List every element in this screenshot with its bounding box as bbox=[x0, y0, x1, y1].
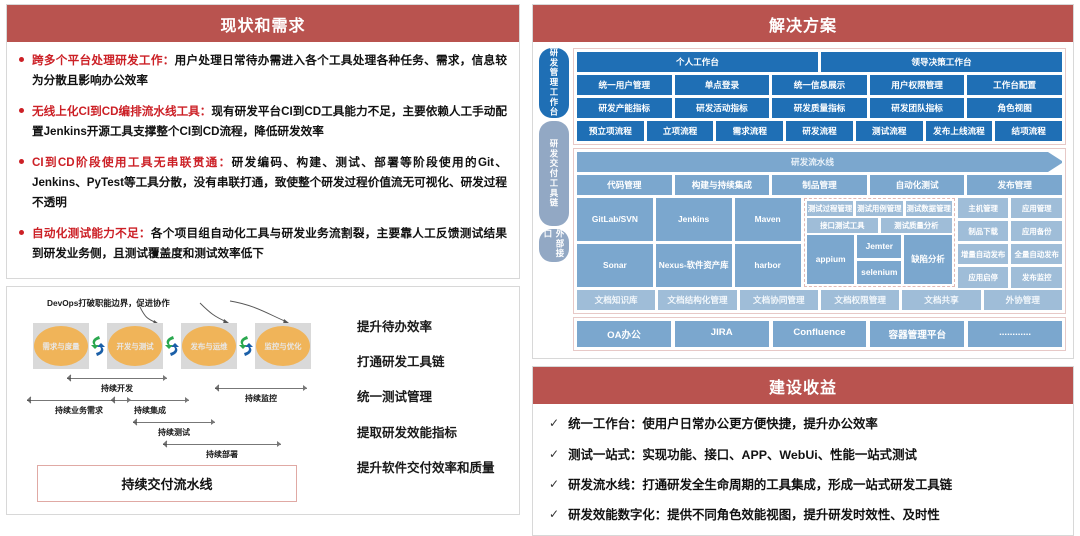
rail-workbench: 研发管理工作台 bbox=[539, 48, 569, 118]
test-mid-row: 接口测试工具 测试质量分析 bbox=[807, 218, 952, 233]
benefit-text: 研发效能数字化：提供不同角色效能视图，提升研发时效性、及时性 bbox=[568, 507, 940, 523]
stage-2: 发布与运维 bbox=[181, 323, 237, 369]
benefit-desc: 使用户日常办公更方便快捷，提升办公效率 bbox=[642, 417, 877, 431]
tool-jenkins[interactable]: Jenkins bbox=[656, 198, 732, 241]
issue-key: 无线上化CI到CD编排流水线工具： bbox=[32, 105, 211, 118]
box-process[interactable]: 结项流程 bbox=[995, 121, 1062, 141]
api-test-tool[interactable]: 接口测试工具 bbox=[807, 218, 878, 233]
stage-1: 开发与测试 bbox=[107, 323, 163, 369]
box-doc[interactable]: 文档结构化管理 bbox=[658, 290, 736, 310]
benefits-title: 建设收益 bbox=[533, 367, 1073, 404]
test-top-row: 测试过程管理 测试用例管理 测试数据管理 bbox=[807, 201, 952, 216]
box-process[interactable]: 发布上线流程 bbox=[926, 121, 993, 141]
benefit-key: 研发效能数字化： bbox=[568, 508, 667, 522]
box-stage[interactable]: 自动化测试 bbox=[870, 175, 965, 195]
tools-artifact: Maven harbor bbox=[735, 198, 801, 287]
box-capability[interactable]: 统一用户管理 bbox=[577, 75, 672, 95]
release-monitor[interactable]: 发布监控 bbox=[1011, 267, 1062, 287]
list-item: ✓ 统一工作台：使用户日常办公更方便快捷，提升办公效率 bbox=[549, 416, 1057, 432]
release-row: 增量自动发布 全量自动发布 bbox=[958, 244, 1062, 264]
capabilities-row: 统一用户管理 单点登录 统一信息展示 用户权限管理 工作台配置 bbox=[577, 75, 1062, 95]
range-label: 持续监控 bbox=[215, 393, 307, 404]
box-confluence[interactable]: Confluence bbox=[773, 321, 867, 347]
external-row: OA办公 JIRA Confluence 容器管理平台 ............ bbox=[577, 321, 1062, 347]
test-bottom-row: appium Jemter selenium 缺陷分析 bbox=[807, 235, 952, 284]
box-process[interactable]: 预立项流程 bbox=[577, 121, 644, 141]
release-row: 应用启停 发布监控 bbox=[958, 267, 1062, 287]
tools-release-group: 主机管理 应用管理 制品下载 应用备份 增量自动发布 全量自动发布 bbox=[958, 198, 1062, 287]
tool-nexus[interactable]: Nexus-软件资产库 bbox=[656, 244, 732, 287]
tools-row: GitLab/SVN Sonar Jenkins Nexus-软件资产库 Mav… bbox=[577, 198, 1062, 287]
range-continuous-deploy: 持续部署 bbox=[163, 441, 281, 457]
range-continuous-monitor: 持续监控 bbox=[215, 385, 307, 401]
current-state-card: 现状和需求 跨多个平台处理研发工作：用户处理日常待办需进入各个工具处理各种任务、… bbox=[6, 4, 520, 279]
host-mgmt[interactable]: 主机管理 bbox=[958, 198, 1009, 218]
right-column: 解决方案 研发管理工作台 研发交付工具链 外部接口 个人工作台 领导决策工作台 … bbox=[532, 4, 1074, 515]
list-item: 提取研发效能指标 bbox=[357, 422, 509, 441]
app-start-stop[interactable]: 应用启停 bbox=[958, 267, 1009, 287]
tools-build: Jenkins Nexus-软件资产库 bbox=[656, 198, 732, 287]
toolchain-group: 研发流水线 代码管理 构建与持续集成 制品管理 自动化测试 发布管理 GitLa… bbox=[573, 148, 1066, 314]
workbench-row: 个人工作台 领导决策工作台 bbox=[577, 52, 1062, 72]
processes-row: 预立项流程 立项流程 需求流程 研发流程 测试流程 发布上线流程 结项流程 bbox=[577, 121, 1062, 141]
benefit-desc: 实现功能、接口、APP、WebUi、性能一站式测试 bbox=[642, 448, 916, 462]
check-icon: ✓ bbox=[549, 416, 559, 430]
box-process[interactable]: 测试流程 bbox=[856, 121, 923, 141]
box-jira[interactable]: JIRA bbox=[675, 321, 769, 347]
box-doc[interactable]: 文档协同管理 bbox=[740, 290, 818, 310]
rail-toolchain: 研发交付工具链 bbox=[539, 121, 569, 226]
list-item: 提升待办效率 bbox=[357, 316, 509, 335]
pipeline-box: 持续交付流水线 bbox=[37, 465, 297, 502]
benefits-card: 建设收益 ✓ 统一工作台：使用户日常办公更方便快捷，提升办公效率 ✓ 测试一站式… bbox=[532, 366, 1074, 536]
range-continuous-test: 持续测试 bbox=[133, 419, 215, 435]
tool-harbor[interactable]: harbor bbox=[735, 244, 801, 287]
lifecycle-stages: 需求与度量 开发与测试 发布与运维 监控与优化 bbox=[33, 323, 311, 369]
range-continuous-integration: 持续集成 bbox=[111, 397, 189, 413]
stage-label: 需求与度量 bbox=[34, 326, 88, 366]
tools-code: GitLab/SVN Sonar bbox=[577, 198, 653, 287]
box-doc[interactable]: 文档权限管理 bbox=[821, 290, 899, 310]
release-row: 主机管理 应用管理 bbox=[958, 198, 1062, 218]
box-oa[interactable]: OA办公 bbox=[577, 321, 671, 347]
test-data-mgmt[interactable]: 测试数据管理 bbox=[906, 201, 952, 216]
slide-root: 现状和需求 跨多个平台处理研发工作：用户处理日常待办需进入各个工具处理各种任务、… bbox=[0, 0, 1080, 519]
sync-icon bbox=[237, 335, 255, 357]
issue-key: CI到CD阶段使用工具无串联贯通： bbox=[32, 156, 232, 169]
box-container-platform[interactable]: 容器管理平台 bbox=[870, 321, 964, 347]
tool-appium[interactable]: appium bbox=[807, 235, 855, 284]
workbench-group: 个人工作台 领导决策工作台 统一用户管理 单点登录 统一信息展示 用户权限管理 … bbox=[573, 48, 1066, 145]
devops-diagram-card: DevOps打破职能边界，促进协作 需求与度量 bbox=[6, 286, 520, 515]
list-item: 自动化测试能力不足：各个项目组自动化工具与研发业务流割裂，主要靠人工反馈测试结果… bbox=[19, 224, 507, 264]
devops-lifecycle: DevOps打破职能边界，促进协作 需求与度量 bbox=[15, 293, 345, 508]
tools-test-group: 测试过程管理 测试用例管理 测试数据管理 接口测试工具 测试质量分析 appiu… bbox=[804, 198, 955, 287]
architecture-rails: 研发管理工作台 研发交付工具链 外部接口 bbox=[539, 48, 569, 351]
list-item: ✓ 测试一站式：实现功能、接口、APP、WebUi、性能一站式测试 bbox=[549, 447, 1057, 463]
architecture-main: 个人工作台 领导决策工作台 统一用户管理 单点登录 统一信息展示 用户权限管理 … bbox=[573, 48, 1066, 351]
full-release[interactable]: 全量自动发布 bbox=[1011, 244, 1062, 264]
box-capability[interactable]: 工作台配置 bbox=[967, 75, 1062, 95]
box-process[interactable]: 研发流程 bbox=[786, 121, 853, 141]
benefit-desc: 打通研发全生命周期的工具集成，形成一站式研发工具链 bbox=[642, 478, 952, 492]
list-item: 提升软件交付效率和质量 bbox=[357, 457, 509, 476]
range-label: 持续测试 bbox=[133, 427, 215, 438]
box-process[interactable]: 立项流程 bbox=[647, 121, 714, 141]
test-process-mgmt[interactable]: 测试过程管理 bbox=[807, 201, 853, 216]
stage-3: 监控与优化 bbox=[255, 323, 311, 369]
list-item: ✓ 研发流水线：打通研发全生命周期的工具集成，形成一站式研发工具链 bbox=[549, 477, 1057, 493]
box-personal-workbench[interactable]: 个人工作台 bbox=[577, 52, 818, 72]
list-item: 打通研发工具链 bbox=[357, 351, 509, 370]
benefit-text: 统一工作台：使用户日常办公更方便快捷，提升办公效率 bbox=[568, 416, 878, 432]
box-process[interactable]: 需求流程 bbox=[716, 121, 783, 141]
tool-sonar[interactable]: Sonar bbox=[577, 244, 653, 287]
box-doc[interactable]: 外协管理 bbox=[984, 290, 1062, 310]
external-group: OA办公 JIRA Confluence 容器管理平台 ............ bbox=[573, 317, 1066, 351]
box-capability[interactable]: 用户权限管理 bbox=[870, 75, 965, 95]
box-stage[interactable]: 构建与持续集成 bbox=[675, 175, 770, 195]
list-item: 跨多个平台处理研发工作：用户处理日常待办需进入各个工具处理各种任务、需求，信息较… bbox=[19, 51, 507, 91]
left-column: 现状和需求 跨多个平台处理研发工作：用户处理日常待办需进入各个工具处理各种任务、… bbox=[6, 4, 520, 515]
benefit-text: 测试一站式：实现功能、接口、APP、WebUi、性能一站式测试 bbox=[568, 447, 917, 463]
list-item: 统一测试管理 bbox=[357, 386, 509, 405]
devops-benefit-list: 提升待办效率 打通研发工具链 统一测试管理 提取研发效能指标 提升软件交付效率和… bbox=[345, 293, 509, 508]
range-label: 持续集成 bbox=[111, 405, 189, 416]
box-stage[interactable]: 代码管理 bbox=[577, 175, 672, 195]
docs-row: 文档知识库 文档结构化管理 文档协同管理 文档权限管理 文档共享 外协管理 bbox=[577, 290, 1062, 310]
box-stage[interactable]: 发布管理 bbox=[967, 175, 1062, 195]
box-doc[interactable]: 文档共享 bbox=[902, 290, 980, 310]
app-mgmt[interactable]: 应用管理 bbox=[1011, 198, 1062, 218]
range-continuous-dev: 持续开发 bbox=[67, 375, 167, 391]
box-doc[interactable]: 文档知识库 bbox=[577, 290, 655, 310]
tool-maven[interactable]: Maven bbox=[735, 198, 801, 241]
box-metric[interactable]: 研发团队指标 bbox=[870, 98, 965, 118]
pipeline-arrow: 研发流水线 bbox=[577, 152, 1048, 172]
bullet-icon bbox=[19, 230, 24, 235]
stage-label: 开发与测试 bbox=[108, 326, 162, 366]
list-item: ✓ 研发效能数字化：提供不同角色效能视图，提升研发时效性、及时性 bbox=[549, 507, 1057, 523]
test-case-mgmt[interactable]: 测试用例管理 bbox=[856, 201, 902, 216]
box-leader-workbench[interactable]: 领导决策工作台 bbox=[821, 52, 1062, 72]
tool-gitlab-svn[interactable]: GitLab/SVN bbox=[577, 198, 653, 241]
bullet-icon bbox=[19, 159, 24, 164]
check-icon: ✓ bbox=[549, 507, 559, 521]
check-icon: ✓ bbox=[549, 477, 559, 491]
issue-key: 跨多个平台处理研发工作： bbox=[32, 54, 175, 67]
sync-icon bbox=[163, 335, 181, 357]
issue-list: 跨多个平台处理研发工作：用户处理日常待办需进入各个工具处理各种任务、需求，信息较… bbox=[7, 42, 519, 278]
tool-selenium[interactable]: selenium bbox=[857, 261, 901, 284]
benefit-key: 测试一站式： bbox=[568, 448, 642, 462]
app-backup[interactable]: 应用备份 bbox=[1011, 221, 1062, 241]
benefits-list: ✓ 统一工作台：使用户日常办公更方便快捷，提升办公效率 ✓ 测试一站式：实现功能… bbox=[533, 404, 1073, 535]
benefit-desc: 提供不同角色效能视图，提升研发时效性、及时性 bbox=[667, 508, 940, 522]
rail-external: 外部接口 bbox=[539, 229, 569, 262]
benefit-key: 研发流水线： bbox=[568, 478, 642, 492]
range-label: 持续开发 bbox=[67, 383, 167, 394]
check-icon: ✓ bbox=[549, 447, 559, 461]
range-label: 持续部署 bbox=[163, 449, 281, 460]
box-metric[interactable]: 研发产能指标 bbox=[577, 98, 672, 118]
box-capability[interactable]: 单点登录 bbox=[675, 75, 770, 95]
tools-jemter-selenium: Jemter selenium bbox=[857, 235, 901, 284]
metrics-row: 研发产能指标 研发活动指标 研发质量指标 研发团队指标 角色视图 bbox=[577, 98, 1062, 118]
test-quality-analysis[interactable]: 测试质量分析 bbox=[881, 218, 952, 233]
architecture-diagram: 研发管理工作台 研发交付工具链 外部接口 个人工作台 领导决策工作台 统一用户管… bbox=[533, 42, 1073, 358]
box-metric[interactable]: 角色视图 bbox=[967, 98, 1062, 118]
stages-row: 代码管理 构建与持续集成 制品管理 自动化测试 发布管理 bbox=[577, 175, 1062, 195]
box-capability[interactable]: 统一信息展示 bbox=[772, 75, 867, 95]
bullet-icon bbox=[19, 108, 24, 113]
sync-icon bbox=[89, 335, 107, 357]
artifact-download[interactable]: 制品下载 bbox=[958, 221, 1009, 241]
issue-key: 自动化测试能力不足： bbox=[32, 227, 151, 240]
devops-diagram-body: DevOps打破职能边界，促进协作 需求与度量 bbox=[7, 287, 519, 514]
tool-jemter[interactable]: Jemter bbox=[857, 235, 901, 258]
box-stage[interactable]: 制品管理 bbox=[772, 175, 867, 195]
box-more[interactable]: ............ bbox=[968, 321, 1062, 347]
solution-card: 解决方案 研发管理工作台 研发交付工具链 外部接口 个人工作台 领导决策工作台 … bbox=[532, 4, 1074, 359]
benefit-key: 统一工作台： bbox=[568, 417, 642, 431]
box-metric[interactable]: 研发活动指标 bbox=[675, 98, 770, 118]
incremental-release[interactable]: 增量自动发布 bbox=[958, 244, 1009, 264]
current-state-title: 现状和需求 bbox=[7, 5, 519, 42]
benefit-text: 研发流水线：打通研发全生命周期的工具集成，形成一站式研发工具链 bbox=[568, 477, 952, 493]
release-row: 制品下载 应用备份 bbox=[958, 221, 1062, 241]
box-metric[interactable]: 研发质量指标 bbox=[772, 98, 867, 118]
stage-label: 监控与优化 bbox=[256, 326, 310, 366]
bullet-icon bbox=[19, 57, 24, 62]
stage-label: 发布与运维 bbox=[182, 326, 236, 366]
solution-title: 解决方案 bbox=[533, 5, 1073, 42]
stage-0: 需求与度量 bbox=[33, 323, 89, 369]
list-item: CI到CD阶段使用工具无串联贯通：研发编码、构建、测试、部署等阶段使用的Git、… bbox=[19, 153, 507, 213]
defect-analysis[interactable]: 缺陷分析 bbox=[904, 235, 952, 284]
list-item: 无线上化CI到CD编排流水线工具：现有研发平台CI到CD工具能力不足，主要依赖人… bbox=[19, 102, 507, 142]
